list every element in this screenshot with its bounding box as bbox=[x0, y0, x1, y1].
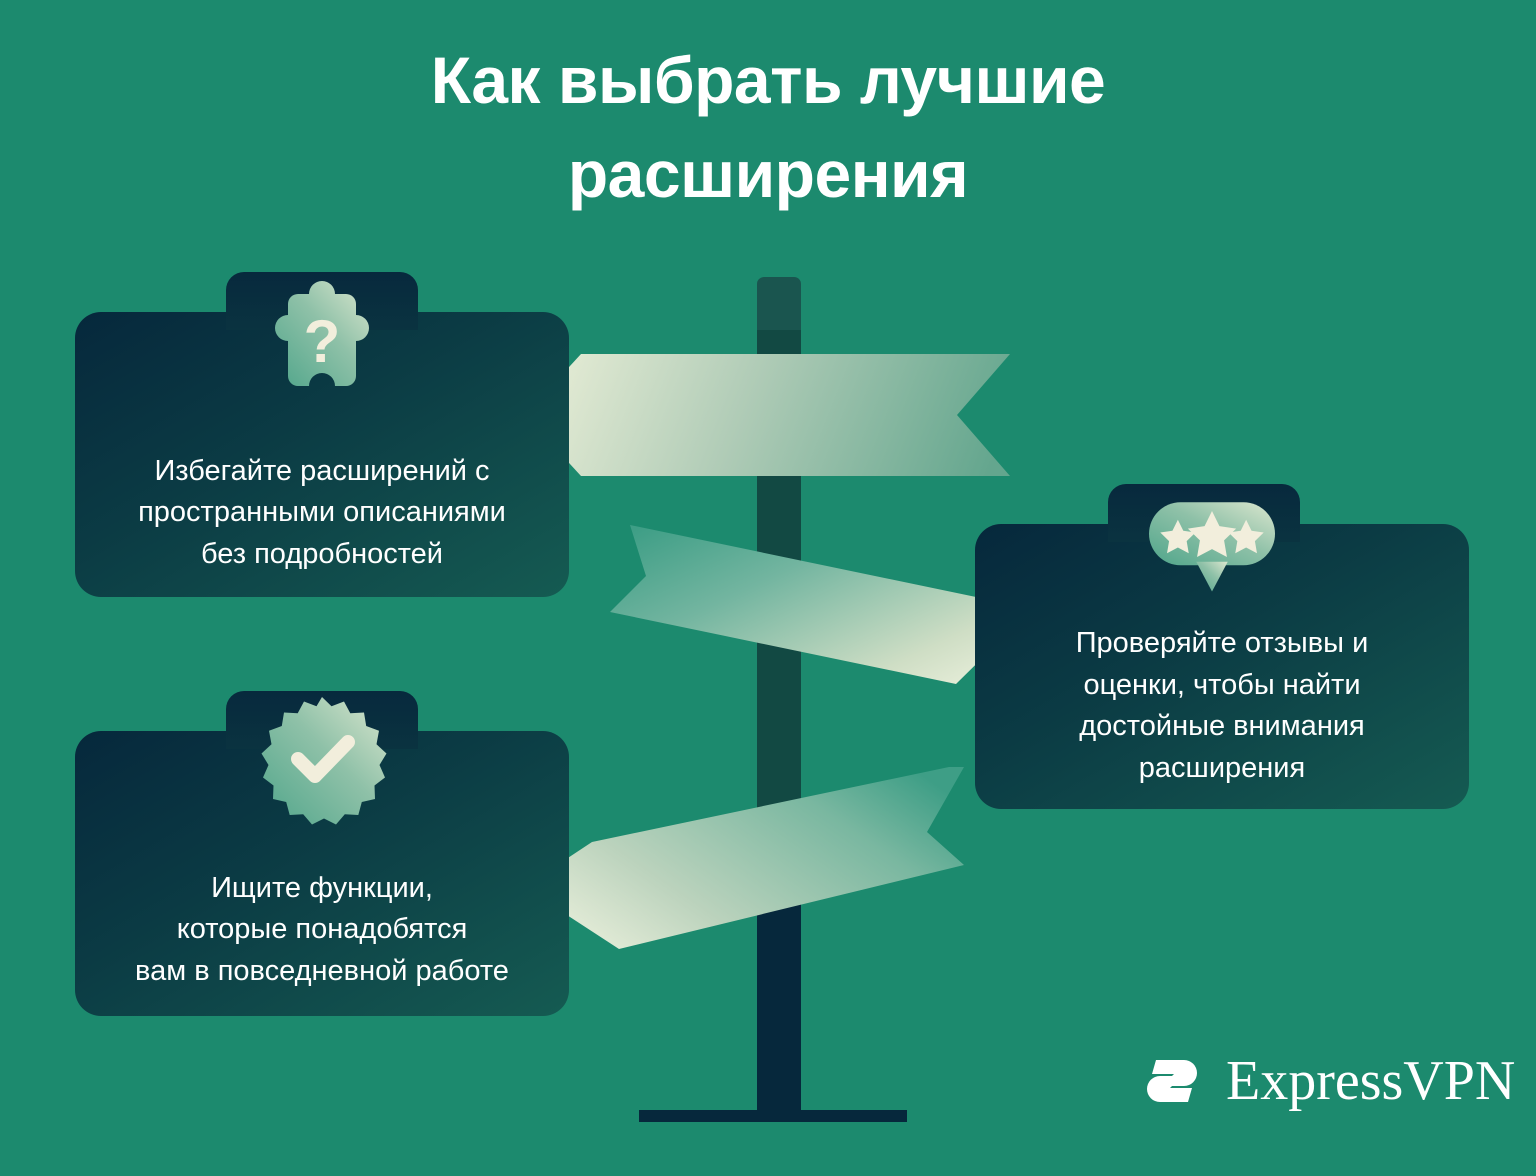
info-card-avoid-vague-extensions[interactable]: ? Избегайте расширений с пространными оп… bbox=[75, 312, 569, 597]
sign-arrow-left-bottom bbox=[524, 757, 964, 962]
infographic-canvas: Как выбрать лучшие расширения bbox=[0, 0, 1536, 1176]
expressvpn-logo[interactable]: ExpressVPN bbox=[1136, 1045, 1515, 1117]
puzzle-question-glyph: ? bbox=[304, 308, 341, 375]
card-text: Ищите функции, которые понадобятся вам в… bbox=[91, 868, 553, 992]
expressvpn-wordmark: ExpressVPN bbox=[1226, 1053, 1515, 1109]
expressvpn-logo-icon bbox=[1136, 1045, 1208, 1117]
review-stars-speech-bubble-icon bbox=[1142, 476, 1282, 616]
info-card-look-for-features[interactable]: Ищите функции, которые понадобятся вам в… bbox=[75, 731, 569, 1016]
verified-badge-check-icon bbox=[252, 689, 392, 829]
sign-arrow-right-middle bbox=[606, 521, 1026, 688]
page-title: Как выбрать лучшие расширения bbox=[268, 34, 1268, 221]
card-text: Избегайте расширений с пространными опис… bbox=[91, 451, 553, 575]
info-card-check-reviews[interactable]: Проверяйте отзывы и оценки, чтобы найти … bbox=[975, 524, 1469, 809]
signpost-base bbox=[639, 1110, 907, 1122]
puzzle-piece-question-icon: ? bbox=[252, 270, 392, 410]
sign-arrow-left-top bbox=[525, 350, 1010, 480]
card-text: Проверяйте отзывы и оценки, чтобы найти … bbox=[991, 623, 1453, 789]
